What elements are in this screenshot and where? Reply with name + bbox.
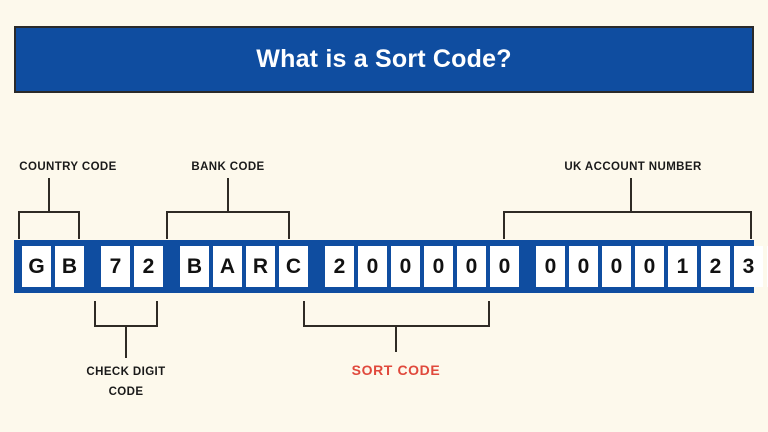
- iban-cell: 0: [391, 246, 420, 287]
- iban-cell: A: [213, 246, 242, 287]
- iban-bar: G B 7 2 B A R C 2 0 0 0 0 0 0: [14, 240, 754, 293]
- label-uk-account-number: UK ACCOUNT NUMBER: [555, 161, 711, 173]
- label-country-code: COUNTRY CODE: [8, 161, 128, 173]
- iban-cell: 0: [457, 246, 486, 287]
- iban-cell: 2: [701, 246, 730, 287]
- iban-group-check-digit-code: 7 2: [99, 246, 165, 287]
- iban-group-uk-account-number: 0 0 0 0 1 2 3 4: [534, 246, 768, 287]
- iban-cell: 2: [325, 246, 354, 287]
- iban-cell: 0: [490, 246, 519, 287]
- iban-cell: 1: [668, 246, 697, 287]
- iban-cell: 7: [101, 246, 130, 287]
- page-title: What is a Sort Code?: [256, 45, 511, 74]
- iban-group-sort-code: 2 0 0 0 0 0: [323, 246, 521, 287]
- iban-group-bank-code: B A R C: [178, 246, 310, 287]
- iban-cell: R: [246, 246, 275, 287]
- iban-cell: B: [180, 246, 209, 287]
- label-check-digit-line2: CODE: [109, 386, 144, 398]
- infographic-canvas: What is a Sort Code? COUNTRY CODE BANK C…: [0, 0, 768, 432]
- iban-cell: 0: [358, 246, 387, 287]
- iban-cell: 0: [424, 246, 453, 287]
- iban-cell: 0: [536, 246, 565, 287]
- iban-cell: 3: [734, 246, 763, 287]
- iban-cell: 0: [569, 246, 598, 287]
- label-check-digit-line1: CHECK DIGIT: [86, 366, 165, 378]
- iban-cell: 0: [602, 246, 631, 287]
- label-bank-code: BANK CODE: [168, 161, 288, 173]
- iban-cell: 2: [134, 246, 163, 287]
- iban-cell: G: [22, 246, 51, 287]
- iban-group-country-code: G B: [20, 246, 86, 287]
- label-sort-code: SORT CODE: [336, 362, 456, 378]
- title-banner: What is a Sort Code?: [14, 26, 754, 93]
- iban-cell: B: [55, 246, 84, 287]
- iban-cell: C: [279, 246, 308, 287]
- iban-cell: 0: [635, 246, 664, 287]
- label-check-digit-code: CHECK DIGIT CODE: [66, 363, 186, 402]
